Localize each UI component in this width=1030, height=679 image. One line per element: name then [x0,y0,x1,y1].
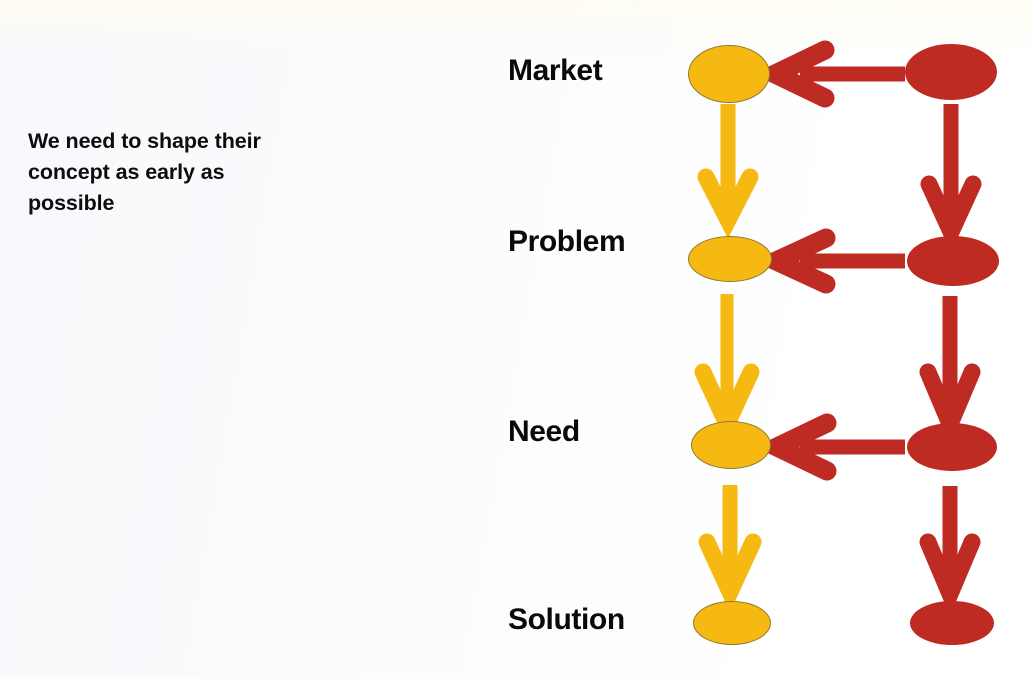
node-problem-secondary[interactable] [907,236,999,286]
slide-canvas: We need to shape their concept as early … [0,0,1030,679]
node-market-secondary[interactable] [905,44,997,100]
node-need-primary[interactable] [691,421,771,469]
cross-arrow-need [777,423,905,471]
down-arrow-primary-need-solution [707,485,753,592]
row-label-need: Need [508,417,580,447]
node-market-primary[interactable] [688,45,770,103]
down-arrow-secondary-need-solution [928,486,972,594]
arrow-layer [0,0,1030,679]
node-solution-primary[interactable] [693,601,771,645]
down-arrow-primary-market-problem [706,104,750,222]
node-solution-secondary[interactable] [910,601,994,645]
down-arrow-primary-problem-need [703,294,751,424]
row-label-market: Market [508,56,602,86]
node-need-secondary[interactable] [907,423,997,471]
cross-arrow-problem [776,238,905,284]
row-label-solution: Solution [508,605,625,635]
down-arrow-secondary-market-problem [929,104,973,232]
cross-arrow-market [775,50,905,98]
down-arrow-secondary-problem-need [928,296,972,424]
node-problem-primary[interactable] [688,236,772,282]
row-label-problem: Problem [508,227,625,257]
caption-text: We need to shape their concept as early … [28,126,358,220]
